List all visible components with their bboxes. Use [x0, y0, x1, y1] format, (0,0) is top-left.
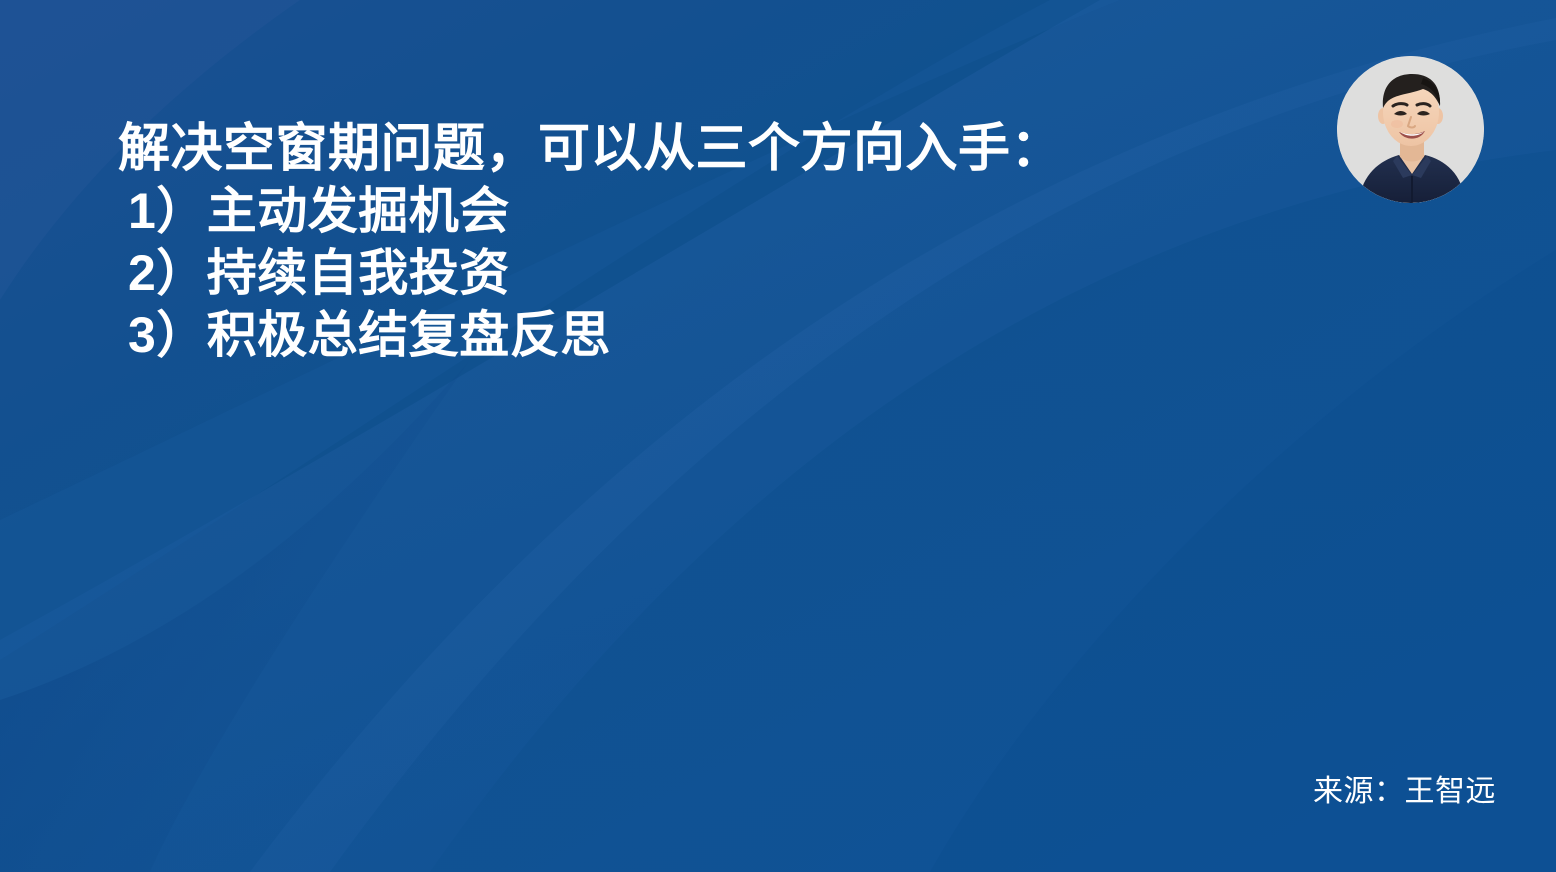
slide-headline: 解决空窗期问题，可以从三个方向入手： — [118, 118, 1262, 180]
slide-canvas: 解决空窗期问题，可以从三个方向入手： 1）主动发掘机会 2）持续自我投资 3）积… — [0, 0, 1556, 872]
portrait-photo-icon — [1337, 56, 1484, 203]
numbered-point-list: 1）主动发掘机会 2）持续自我投资 3）积极总结复盘反思 — [112, 180, 1262, 366]
source-credit: 来源：王智远 — [1313, 774, 1496, 810]
list-item: 1）主动发掘机会 — [128, 180, 1262, 242]
slide-text-block: 解决空窗期问题，可以从三个方向入手： 1）主动发掘机会 2）持续自我投资 3）积… — [112, 118, 1262, 366]
avatar — [1337, 56, 1484, 203]
list-item: 2）持续自我投资 — [128, 242, 1262, 304]
list-item: 3）积极总结复盘反思 — [128, 304, 1262, 366]
